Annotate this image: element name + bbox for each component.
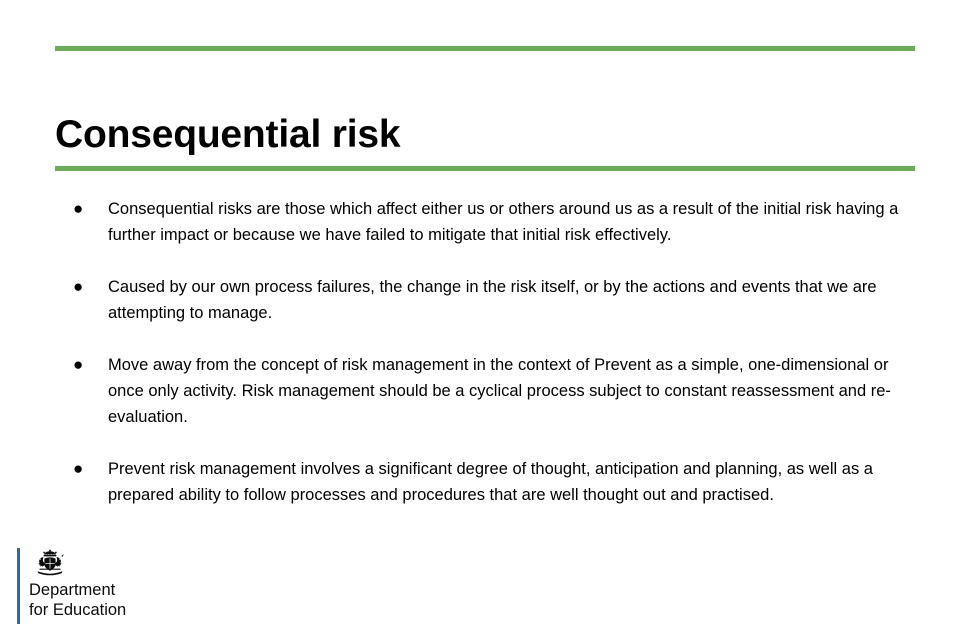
- title-rule-bottom: [55, 166, 915, 171]
- bullet-point-icon: ●: [73, 274, 83, 300]
- title-rule-top: [55, 46, 915, 51]
- list-item: ● Consequential risks are those which af…: [55, 196, 910, 248]
- list-item-text: Prevent risk management involves a signi…: [108, 456, 910, 508]
- bullet-point-icon: ●: [73, 352, 83, 378]
- list-item-text: Move away from the concept of risk manag…: [108, 352, 910, 430]
- royal-coat-of-arms-icon: [29, 548, 71, 578]
- logo-line-1: Department: [29, 580, 126, 600]
- page-title: Consequential risk: [55, 111, 915, 159]
- list-item: ● Caused by our own process failures, th…: [55, 274, 910, 326]
- list-item-text: Consequential risks are those which affe…: [108, 196, 910, 248]
- bullet-point-icon: ●: [73, 456, 83, 482]
- logo-content: Department for Education: [20, 548, 126, 624]
- bullet-list: ● Consequential risks are those which af…: [55, 196, 910, 508]
- list-item: ● Prevent risk management involves a sig…: [55, 456, 910, 508]
- logo-line-2: for Education: [29, 600, 126, 620]
- list-item: ● Move away from the concept of risk man…: [55, 352, 910, 430]
- logo-wordmark: Department for Education: [29, 580, 126, 620]
- list-item-text: Caused by our own process failures, the …: [108, 274, 910, 326]
- bullet-point-icon: ●: [73, 196, 83, 222]
- slide: Consequential risk ● Consequential risks…: [0, 0, 960, 640]
- department-for-education-logo: Department for Education: [17, 548, 126, 624]
